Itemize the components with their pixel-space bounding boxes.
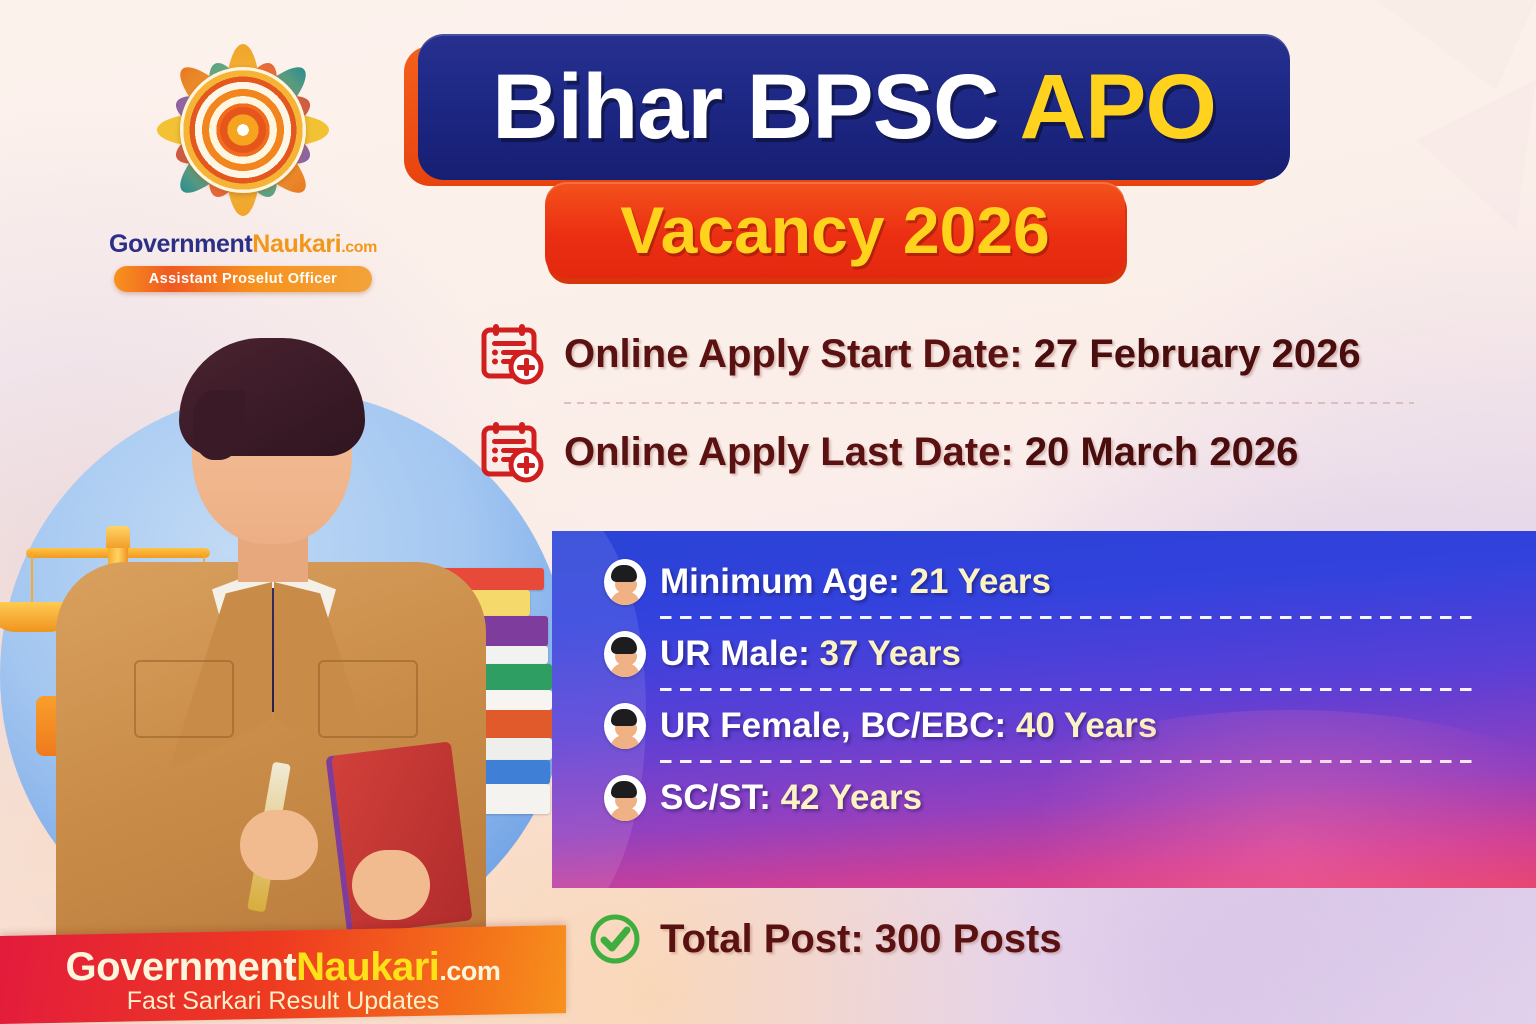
date-last-text: Online Apply Last Date: 20 March 2026: [564, 432, 1298, 472]
title-line1-yellow: APO: [1020, 56, 1216, 158]
page-title: Bihar BPSC APO: [492, 61, 1216, 153]
age-minimum-label: Minimum Age:: [660, 562, 910, 601]
footer-brand-government: Government: [66, 945, 297, 989]
logo-tagline-pill: Assistant Proselut Officer: [114, 266, 372, 292]
poster-title-block: Bihar BPSC APO Vacancy 2026: [404, 28, 1294, 278]
date-last-value: 20 March 2026: [1025, 430, 1299, 474]
age-ur-female-text: UR Female, BC/EBC: 40 Years: [660, 708, 1157, 743]
person-avatar-icon: [604, 703, 646, 749]
subtitle-red-banner: Vacancy 2026: [545, 182, 1125, 278]
footer-content[interactable]: GovernmentNaukari.com Fast Sarkari Resul…: [0, 936, 566, 1024]
age-row-sc-st: SC/ST: 42 Years: [604, 763, 1502, 832]
poster-canvas: GovernmentNaukari.com Assistant Proselut…: [0, 0, 1536, 1024]
age-limit-panel: Minimum Age: 21 Years UR Male: 37 Years …: [552, 531, 1536, 888]
footer-subtitle: Fast Sarkari Result Updates: [127, 989, 440, 1014]
mandala-emblem-icon: [143, 30, 343, 230]
person-avatar-icon: [604, 775, 646, 821]
title-line1-white: Bihar BPSC: [492, 56, 1019, 158]
date-last-label: Online Apply Last Date:: [564, 430, 1025, 474]
logo-brand-text: GovernmentNaukari.com: [88, 232, 398, 257]
calendar-add-icon: [480, 419, 546, 485]
age-sc-st-text: SC/ST: 42 Years: [660, 780, 922, 815]
age-ur-male-label: UR Male:: [660, 634, 819, 673]
title-blue-banner: Bihar BPSC APO: [418, 34, 1290, 180]
age-minimum-value: 21 Years: [910, 562, 1051, 601]
age-minimum-text: Minimum Age: 21 Years: [660, 564, 1051, 599]
age-sc-st-label: SC/ST:: [660, 778, 781, 817]
site-logo-block[interactable]: GovernmentNaukari.com Assistant Proselut…: [88, 24, 398, 292]
date-start-label: Online Apply Start Date:: [564, 332, 1034, 376]
logo-brand-government: Government: [109, 230, 252, 258]
age-ur-male-text: UR Male: 37 Years: [660, 636, 961, 671]
age-sc-st-value: 42 Years: [781, 778, 922, 817]
date-row-last: Online Apply Last Date: 20 March 2026: [480, 406, 1500, 498]
date-start-value: 27 February 2026: [1034, 332, 1361, 376]
age-ur-female-label: UR Female, BC/EBC:: [660, 706, 1016, 745]
officer-character-illustration: [42, 330, 502, 970]
age-row-minimum: Minimum Age: 21 Years: [604, 547, 1502, 616]
person-avatar-icon: [604, 559, 646, 605]
date-row-start: Online Apply Start Date: 27 February 202…: [480, 308, 1500, 400]
age-divider: [660, 688, 1474, 691]
person-avatar-icon: [604, 631, 646, 677]
footer-brand-com: .com: [439, 956, 500, 986]
green-check-circle-icon: [588, 912, 642, 966]
age-divider: [660, 760, 1474, 763]
date-start-text: Online Apply Start Date: 27 February 202…: [564, 334, 1361, 374]
total-post-row: Total Post: 300 Posts: [588, 912, 1062, 966]
age-ur-female-value: 40 Years: [1016, 706, 1157, 745]
footer-brand-text: GovernmentNaukari.com: [66, 947, 501, 987]
age-ur-male-value: 37 Years: [819, 634, 960, 673]
logo-brand-naukari: Naukari: [252, 230, 341, 258]
date-divider: [564, 402, 1414, 404]
footer-brand-naukari: Naukari: [296, 945, 439, 989]
logo-brand-com: .com: [341, 239, 377, 256]
calendar-add-icon: [480, 321, 546, 387]
page-subtitle: Vacancy 2026: [620, 197, 1049, 263]
age-limit-list: Minimum Age: 21 Years UR Male: 37 Years …: [552, 531, 1536, 832]
important-dates-section: Online Apply Start Date: 27 February 202…: [480, 308, 1500, 498]
total-post-text: Total Post: 300 Posts: [660, 919, 1062, 959]
age-row-ur-female: UR Female, BC/EBC: 40 Years: [604, 691, 1502, 760]
age-divider: [660, 616, 1474, 619]
age-row-ur-male: UR Male: 37 Years: [604, 619, 1502, 688]
